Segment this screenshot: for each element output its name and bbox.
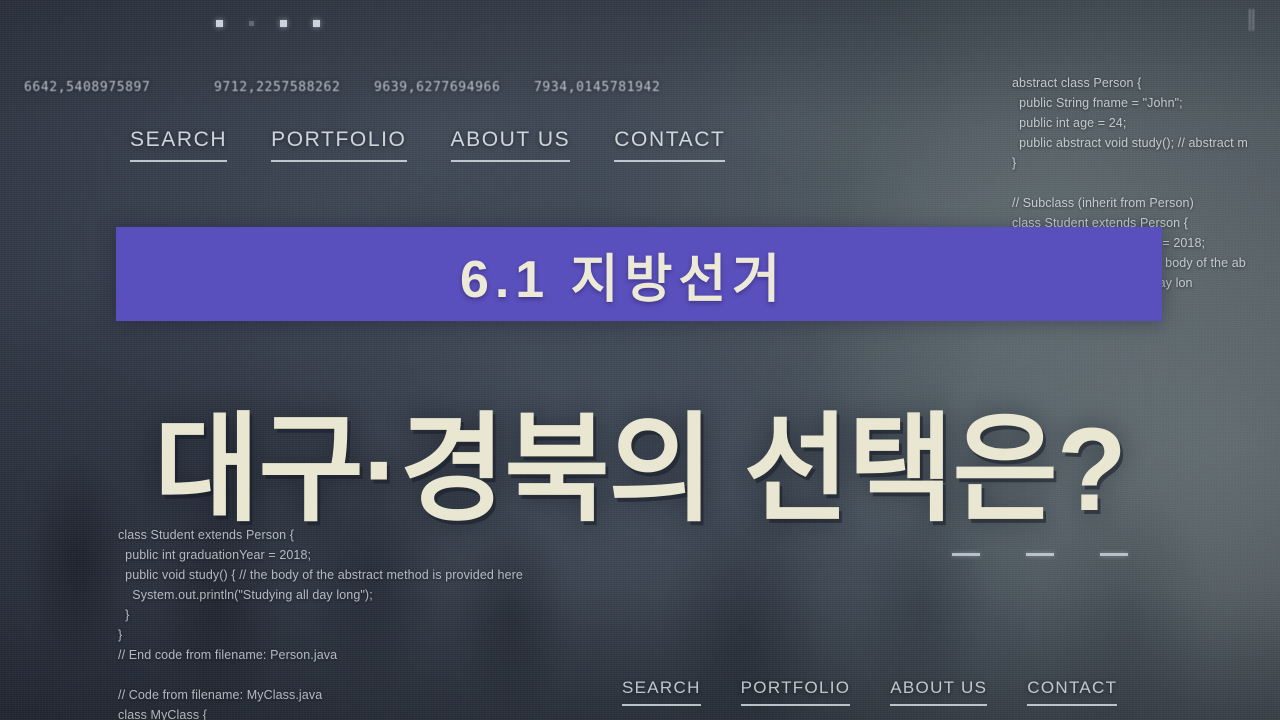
dash-mark xyxy=(952,553,980,556)
nav-bottom-item-search[interactable]: SEARCH xyxy=(622,678,701,706)
dash-mark xyxy=(1100,553,1128,556)
video-frame: 6642,5408975897 9712,2257588262 9639,627… xyxy=(0,0,1280,720)
page-headline: 대구·경북의 선택은? xyxy=(19,409,1261,533)
numeric-ticker-value: 7934,0145781942 xyxy=(534,80,660,95)
nav-top-item-about-us[interactable]: ABOUT US xyxy=(451,128,571,162)
nav-bottom-item-portfolio[interactable]: PORTFOLIO xyxy=(741,678,851,706)
edge-glyph: ∥ xyxy=(1246,6,1258,32)
code-overlay-bottom-left: class Student extends Person { public in… xyxy=(118,525,523,720)
title-band-text: 6.1 지방선거 xyxy=(460,237,786,312)
numeric-ticker-value: 9712,2257588262 xyxy=(214,80,340,95)
marker-dot-row xyxy=(216,20,320,27)
marker-dot xyxy=(249,21,254,26)
numeric-ticker-value: 9639,6277694966 xyxy=(374,80,500,95)
nav-bottom-item-contact[interactable]: CONTACT xyxy=(1027,678,1117,706)
title-band: 6.1 지방선거 xyxy=(116,227,1162,321)
nav-top-item-contact[interactable]: CONTACT xyxy=(614,128,725,162)
marker-dot xyxy=(313,20,320,27)
dash-mark-row xyxy=(952,553,1128,556)
nav-bottom: SEARCH PORTFOLIO ABOUT US CONTACT xyxy=(622,678,1117,706)
numeric-ticker-value: 6642,5408975897 xyxy=(24,80,150,95)
dash-mark xyxy=(1026,553,1054,556)
nav-top-item-search[interactable]: SEARCH xyxy=(130,128,227,162)
nav-top: SEARCH PORTFOLIO ABOUT US CONTACT xyxy=(130,128,725,162)
marker-dot xyxy=(280,20,287,27)
nav-top-item-portfolio[interactable]: PORTFOLIO xyxy=(271,128,406,162)
nav-bottom-item-about-us[interactable]: ABOUT US xyxy=(890,678,987,706)
marker-dot xyxy=(216,20,223,27)
